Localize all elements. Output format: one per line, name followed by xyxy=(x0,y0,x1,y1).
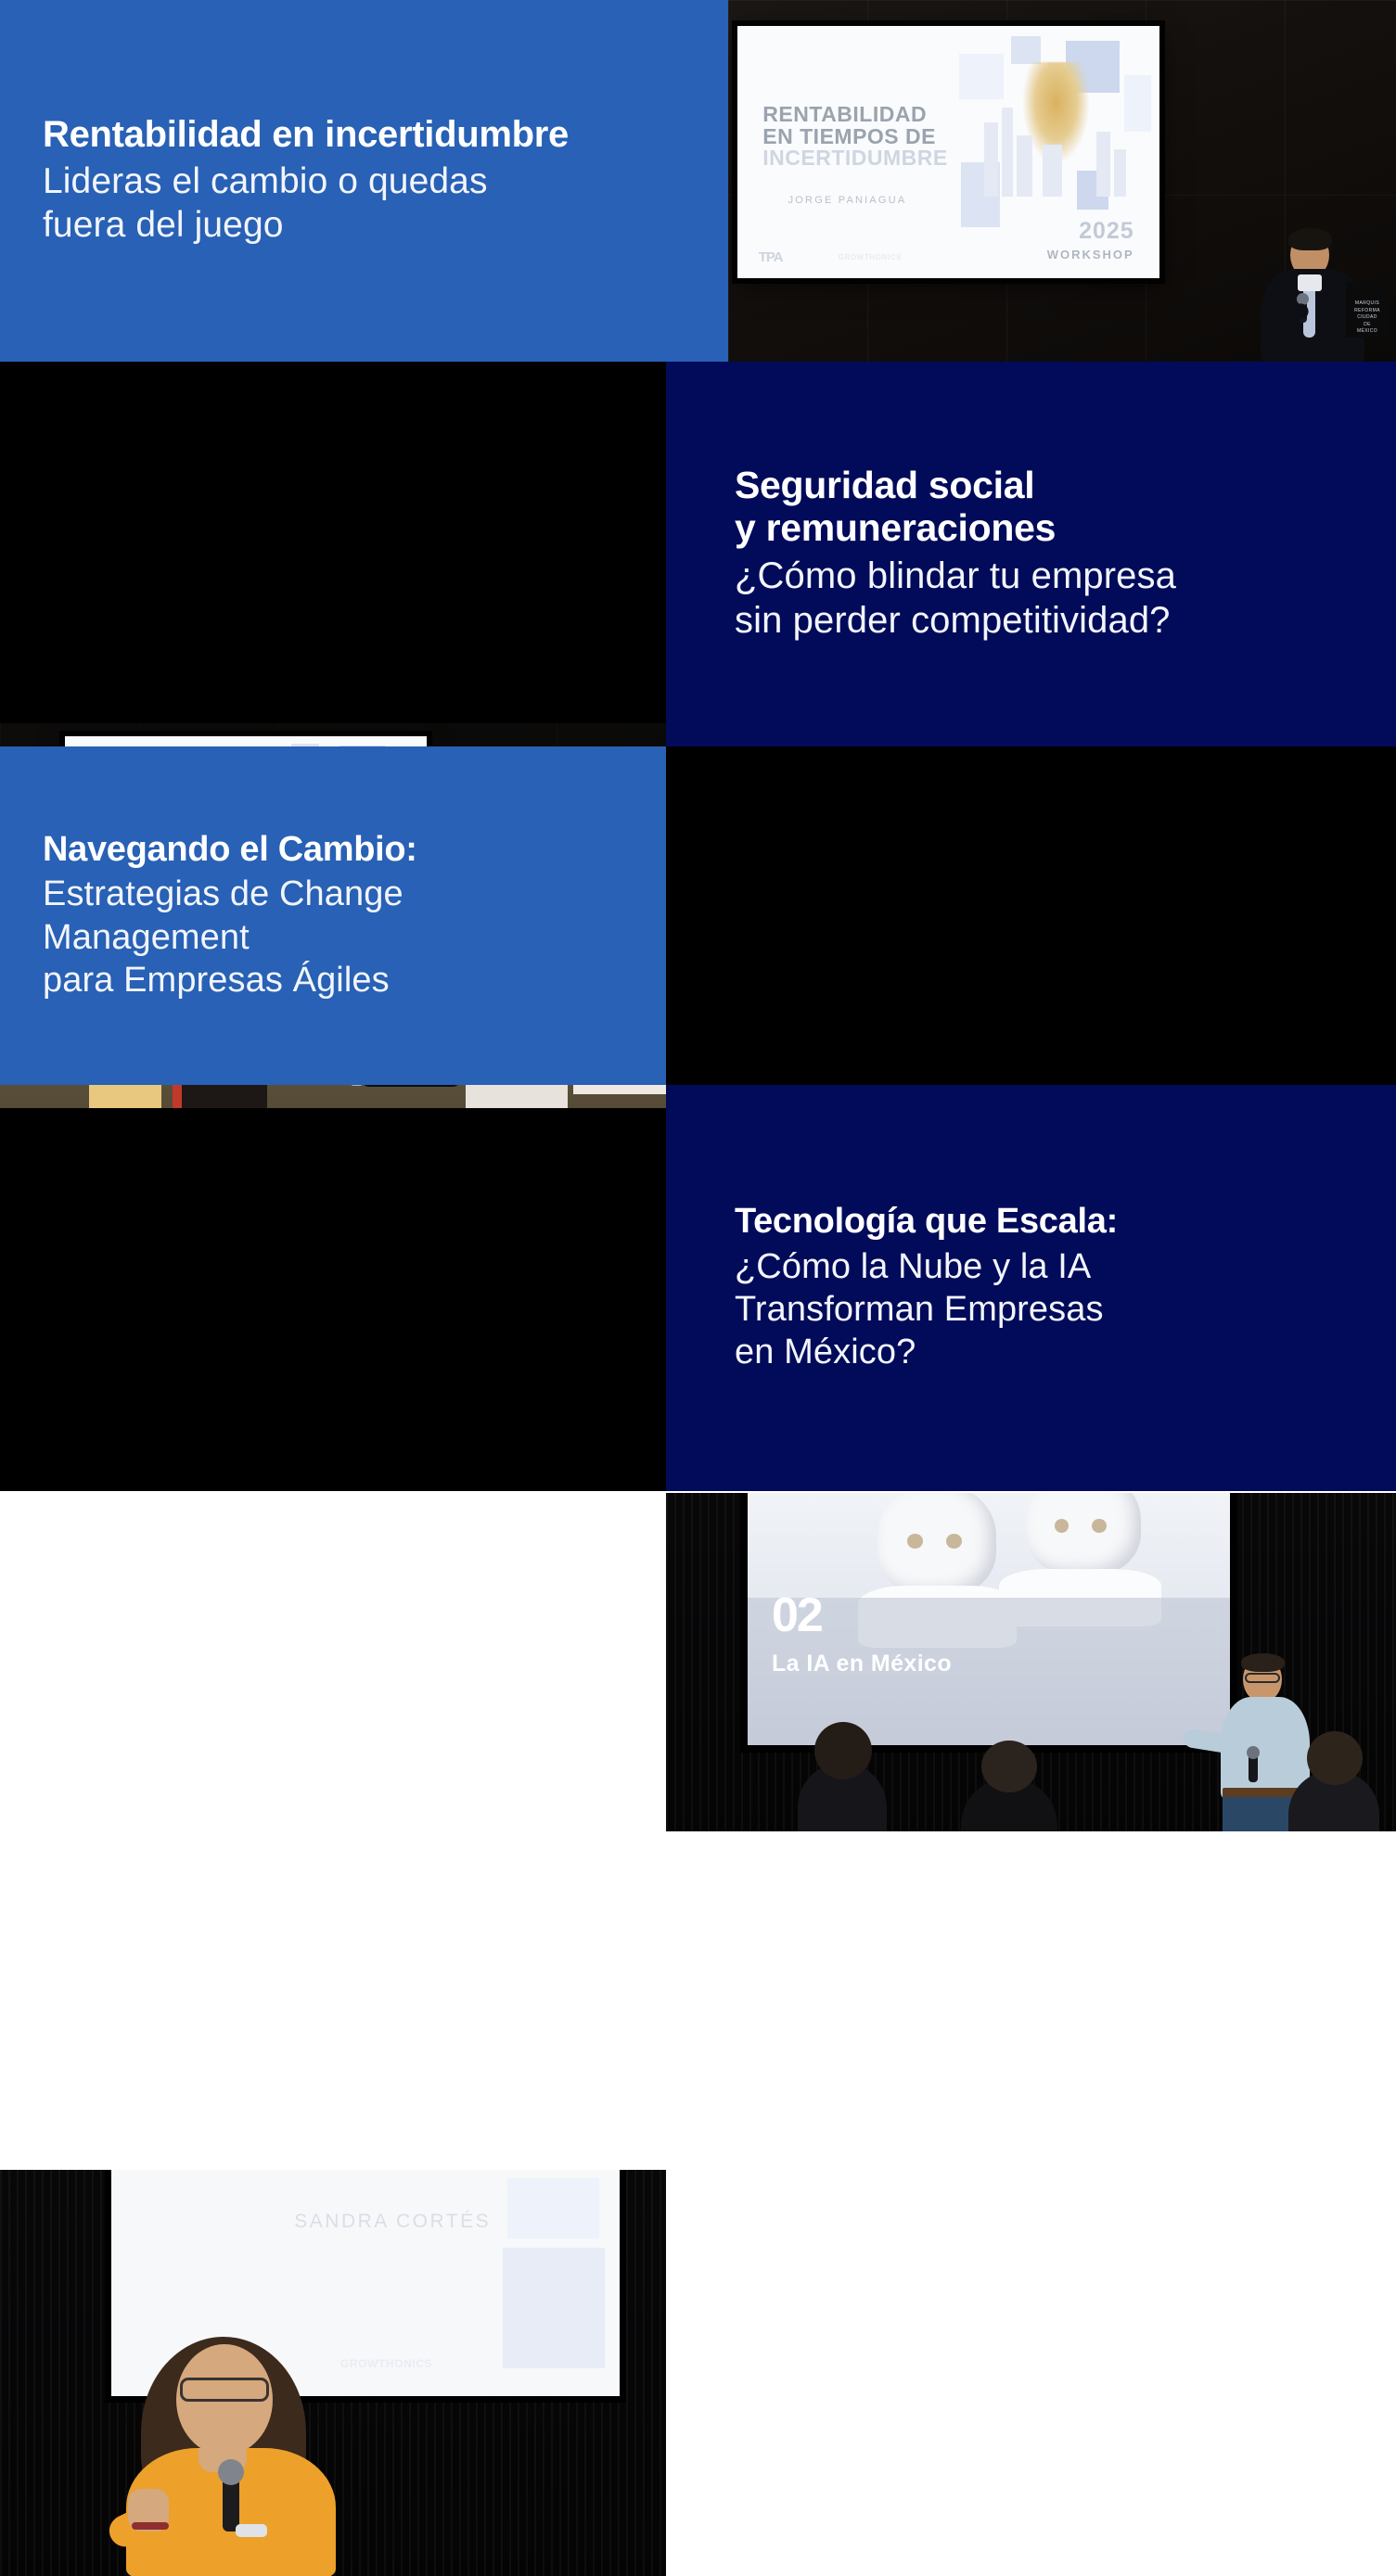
slide-logos: TPA GROWTHONICS xyxy=(759,249,902,265)
event-photo-collage: Rentabilidad en incertidumbre Lideras el… xyxy=(0,0,1396,1491)
slide-author: JORGE PANIAGUA xyxy=(788,195,907,206)
panel-tecnologia-title: Tecnología que Escala: xyxy=(735,1202,1368,1242)
projection-screen: 02 La IA en México xyxy=(748,1493,1230,1745)
robot-graphic xyxy=(1008,1493,1153,1598)
panel-rentabilidad: Rentabilidad en incertidumbre Lideras el… xyxy=(0,0,728,362)
growthonics-logo: GROWTHONICS xyxy=(839,253,902,261)
photo-sandra: SANDRA CORTÉS TPA GROWTHONICS xyxy=(0,2170,666,2576)
speaker-figure xyxy=(109,2326,388,2576)
subtitle-line: fuera del juego xyxy=(43,203,685,248)
projection-screen: RENTABILIDAD EN TIEMPOS DE INCERTIDUMBRE… xyxy=(737,26,1159,278)
panel-rentabilidad-title: Rentabilidad en incertidumbre xyxy=(43,114,685,156)
slide-title: RENTABILIDAD EN TIEMPOS DE INCERTIDUMBRE xyxy=(762,104,947,169)
eyeglasses-icon xyxy=(1245,1673,1280,1683)
wristwatch xyxy=(236,2524,267,2537)
panel-seguridad-subtitle: ¿Cómo blindar tu empresa sin perder comp… xyxy=(735,554,1368,644)
photo-rentabilidad: RENTABILIDAD EN TIEMPOS DE INCERTIDUMBRE… xyxy=(728,0,1396,362)
ai-slide: 02 La IA en México xyxy=(748,1493,1230,1745)
title-line: Seguridad social xyxy=(735,465,1368,507)
ai-section-number: 02 xyxy=(772,1588,822,1643)
photo-ia: 02 La IA en México xyxy=(666,1493,1396,1831)
ai-section-caption: La IA en México xyxy=(772,1651,952,1677)
panel-rentabilidad-subtitle: Lideras el cambio o quedas fuera del jue… xyxy=(43,159,685,248)
subtitle-line: ¿Cómo blindar tu empresa xyxy=(735,554,1368,599)
panel-seguridad-title: Seguridad social y remuneraciones xyxy=(735,465,1368,550)
subtitle-line: para Empresas Ágiles xyxy=(43,959,623,1001)
slide-workshop-label: WORKSHOP xyxy=(1047,248,1134,261)
tpa-logo: TPA xyxy=(759,249,783,265)
bracelet xyxy=(132,2522,169,2530)
subtitle-line: en México? xyxy=(735,1331,1368,1373)
subtitle-line: Transforman Empresas xyxy=(735,1288,1368,1331)
slide-author: SANDRA CORTÉS xyxy=(294,2211,491,2233)
subtitle-line: ¿Cómo la Nube y la IA xyxy=(735,1245,1368,1288)
panel-navegando: Navegando el Cambio: Estrategias de Chan… xyxy=(0,746,666,1085)
subtitle-line: Estrategias de Change xyxy=(43,873,623,915)
subtitle-line: sin perder competitividad? xyxy=(735,598,1368,644)
subtitle-line: Lideras el cambio o quedas xyxy=(43,159,685,204)
subtitle-line: Management xyxy=(43,916,623,959)
eyeglasses-icon xyxy=(180,2378,269,2402)
panel-navegando-title: Navegando el Cambio: xyxy=(43,830,623,870)
panel-navegando-subtitle: Estrategias de Change Management para Em… xyxy=(43,873,623,1001)
slide-year: 2025 xyxy=(1079,218,1134,245)
panel-seguridad: Seguridad social y remuneraciones ¿Cómo … xyxy=(666,362,1396,746)
hotel-banner: MARQUISREFORMACIUDAD DE MÉXICO xyxy=(1346,282,1389,338)
panel-tecnologia-subtitle: ¿Cómo la Nube y la IA Transforman Empres… xyxy=(735,1245,1368,1374)
panel-tecnologia: Tecnología que Escala: ¿Cómo la Nube y l… xyxy=(666,1085,1396,1491)
title-line: y remuneraciones xyxy=(735,507,1368,550)
